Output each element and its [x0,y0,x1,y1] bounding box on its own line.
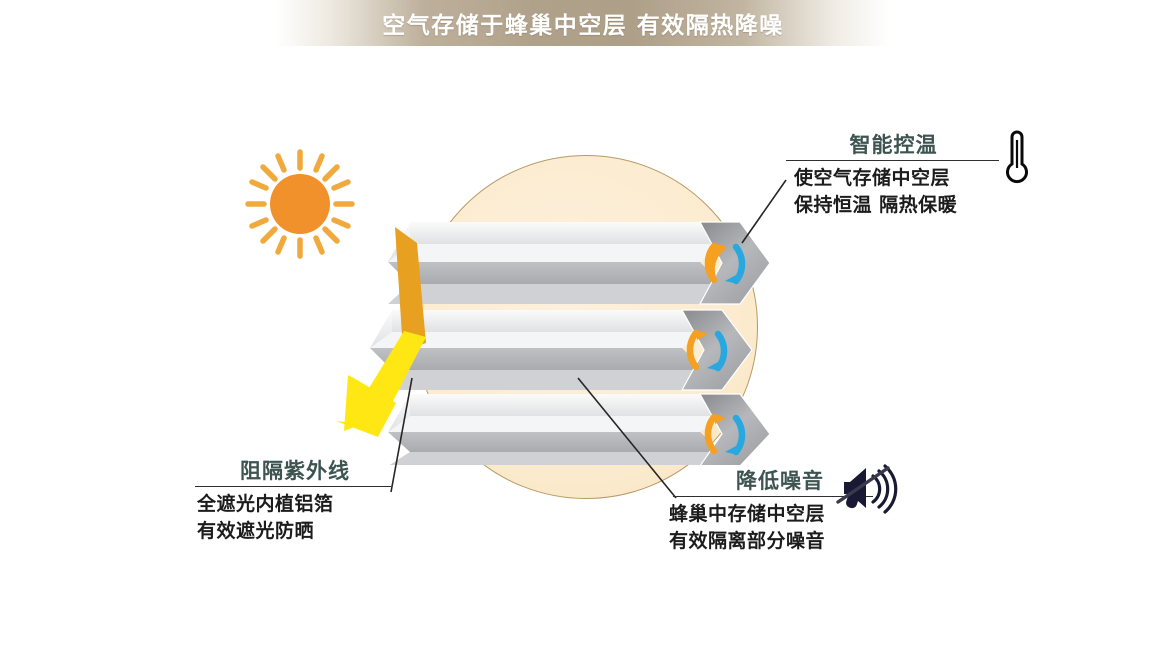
muted-speaker-icon [836,462,898,520]
title-banner: 空气存储于蜂巢中空层 有效隔热降噪 [276,0,890,46]
callout-uv-rule [195,486,391,487]
infographic-canvas: 空气存储于蜂巢中空层 有效隔热降噪 [0,0,1171,659]
thermometer-icon [1000,128,1034,190]
banner-title: 空气存储于蜂巢中空层 有效隔热降噪 [382,6,784,40]
callout-noise-line-2: 有效隔离部分噪音 [665,528,875,555]
callout-temperature-heading: 智能控温 [786,134,1001,157]
callout-temperature-line-2: 保持恒温 隔热保暖 [786,192,1001,219]
callout-temperature-line-1: 使空气存储中空层 [786,165,1001,192]
callout-uv-line-2: 有效遮光防晒 [195,518,395,545]
callout-uv-line-1: 全遮光内植铝箔 [195,491,395,518]
callout-uv: 阻隔紫外线 全遮光内植铝箔 有效遮光防晒 [195,460,395,545]
callout-temperature: 智能控温 使空气存储中空层 保持恒温 隔热保暖 [786,134,1001,219]
callout-uv-heading: 阻隔紫外线 [195,460,395,483]
uv-beam-arrow [300,225,460,440]
callout-temperature-rule [786,160,999,161]
